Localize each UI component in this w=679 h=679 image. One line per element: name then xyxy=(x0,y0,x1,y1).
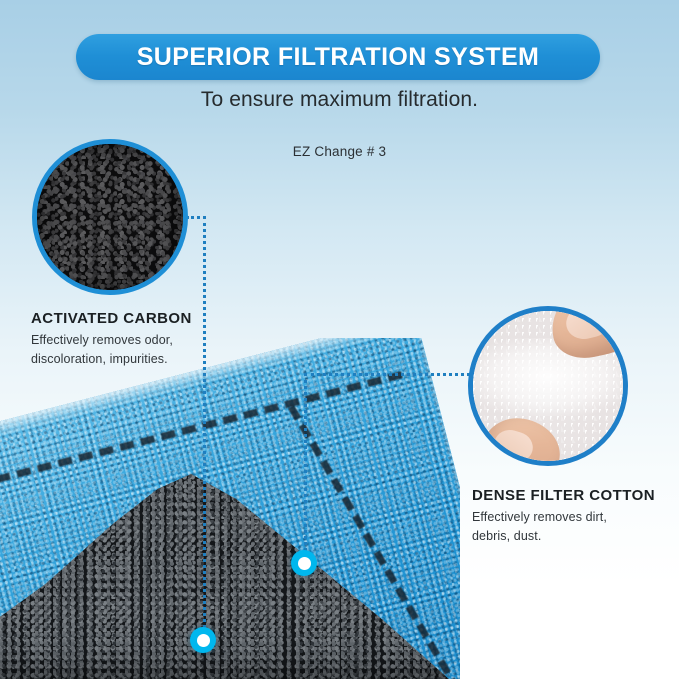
title-banner: SUPERIOR FILTRATION SYSTEM xyxy=(76,34,600,80)
cotton-connector-segment-v xyxy=(304,373,307,563)
callout-description-dense-filter-cotton: Effectively removes dirt, debris, dust. xyxy=(472,508,655,547)
carbon-granules-texture xyxy=(37,144,183,290)
callout-dot-dense-filter-cotton xyxy=(291,550,317,576)
cotton-connector-segment-h xyxy=(304,373,470,376)
dense-filter-cotton-inset-photo xyxy=(468,306,628,466)
subtitle-text: To ensure maximum filtration. xyxy=(0,88,679,112)
callout-desc-line-1: Effectively removes odor, xyxy=(31,331,192,350)
carbon-connector-segment-v xyxy=(203,216,206,640)
callout-dot-activated-carbon xyxy=(190,627,216,653)
filter-pad-photo xyxy=(0,338,460,679)
banner-title-text: SUPERIOR FILTRATION SYSTEM xyxy=(137,43,540,72)
infographic-canvas: SUPERIOR FILTRATION SYSTEM To ensure max… xyxy=(0,0,679,679)
activated-carbon-inset-photo xyxy=(32,139,188,295)
callout-desc-line-1: Effectively removes dirt, xyxy=(472,508,655,527)
callout-desc-line-2: discoloration, impurities. xyxy=(31,350,192,369)
callout-label-dense-filter-cotton: DENSE FILTER COTTON Effectively removes … xyxy=(472,487,655,547)
callout-title-dense-filter-cotton: DENSE FILTER COTTON xyxy=(472,487,655,504)
callout-description-activated-carbon: Effectively removes odor, discoloration,… xyxy=(31,331,192,370)
callout-desc-line-2: debris, dust. xyxy=(472,527,655,546)
callout-label-activated-carbon: ACTIVATED CARBON Effectively removes odo… xyxy=(31,310,192,370)
callout-title-activated-carbon: ACTIVATED CARBON xyxy=(31,310,192,327)
